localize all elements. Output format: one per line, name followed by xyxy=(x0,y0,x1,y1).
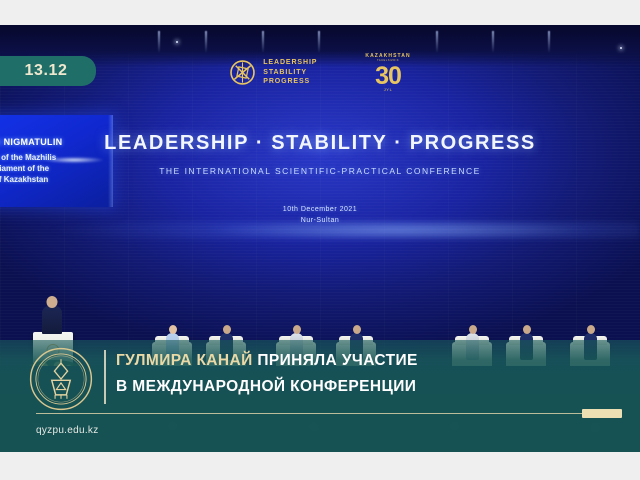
screenshot-root: N NIGMATULIN n of the Mazhilis rliament … xyxy=(0,0,640,480)
lsp-line-2: STABILITY xyxy=(263,68,317,78)
kz-country-sublabel: TAUELSIZDIK xyxy=(365,59,410,63)
caption-block: ГУЛМИРА КАНАЙ ПРИНЯЛА УЧАСТИЕ В МЕЖДУНАР… xyxy=(116,348,620,400)
website-divider-rule xyxy=(36,413,622,415)
caption-accent-rule xyxy=(104,350,106,404)
caption-line-1-rest: ПРИНЯЛА УЧАСТИЕ xyxy=(253,352,418,369)
letterbox-bottom xyxy=(0,452,640,480)
university-crest-icon xyxy=(28,346,94,412)
led-wall-content: LEADERSHIP STABILITY PROGRESS KAZAKHSTAN… xyxy=(0,53,640,226)
website-rule-end-cap xyxy=(582,409,622,418)
kz-year-label: JYL xyxy=(365,87,410,92)
caption-person-name: ГУЛМИРА КАНАЙ xyxy=(116,352,253,369)
kazakhstan-30-anniversary-logo: KAZAKHSTAN TAUELSIZDIK 30 JYL xyxy=(365,53,410,92)
caption-line-2: В МЕЖДУНАРОДНОЙ КОНФЕРЕНЦИИ xyxy=(116,374,620,400)
logo-row: LEADERSHIP STABILITY PROGRESS KAZAKHSTAN… xyxy=(0,53,640,92)
truss-light xyxy=(158,31,160,53)
truss-light xyxy=(205,31,207,53)
conference-meta: 10th December 2021 Nur-Sultan xyxy=(0,204,640,226)
website-url: qyzpu.edu.kz xyxy=(36,425,99,436)
conference-headline: LEADERSHIP · STABILITY · PROGRESS xyxy=(0,132,640,155)
truss-light xyxy=(262,31,264,53)
truss-light xyxy=(548,31,550,53)
truss-light xyxy=(436,31,438,53)
stage-light-speck xyxy=(620,47,622,49)
video-frame: N NIGMATULIN n of the Mazhilis rliament … xyxy=(0,25,640,452)
lsp-line-3: PROGRESS xyxy=(263,77,317,87)
conference-city: Nur-Sultan xyxy=(0,215,640,226)
letterbox-top xyxy=(0,0,640,25)
kz-anniversary-number: 30 xyxy=(365,64,410,89)
conference-subheadline: THE INTERNATIONAL SCIENTIFIC-PRACTICAL C… xyxy=(0,166,640,176)
speaker-at-podium xyxy=(42,306,62,334)
caption-line-1: ГУЛМИРА КАНАЙ ПРИНЯЛА УЧАСТИЕ xyxy=(116,348,620,374)
truss-light xyxy=(492,31,494,53)
lsp-line-1: LEADERSHIP xyxy=(263,58,317,68)
leadership-stability-progress-logo: LEADERSHIP STABILITY PROGRESS xyxy=(229,58,317,87)
conference-emblem-icon xyxy=(229,59,256,86)
date-badge-value: 13.12 xyxy=(14,62,67,80)
lsp-wordmark: LEADERSHIP STABILITY PROGRESS xyxy=(263,58,317,87)
conference-date: 10th December 2021 xyxy=(0,204,640,215)
date-badge: 13.12 xyxy=(0,56,96,86)
truss-light xyxy=(318,31,320,53)
lower-third-overlay: ГУЛМИРА КАНАЙ ПРИНЯЛА УЧАСТИЕ В МЕЖДУНАР… xyxy=(0,340,640,452)
stage-light-speck xyxy=(176,41,178,43)
